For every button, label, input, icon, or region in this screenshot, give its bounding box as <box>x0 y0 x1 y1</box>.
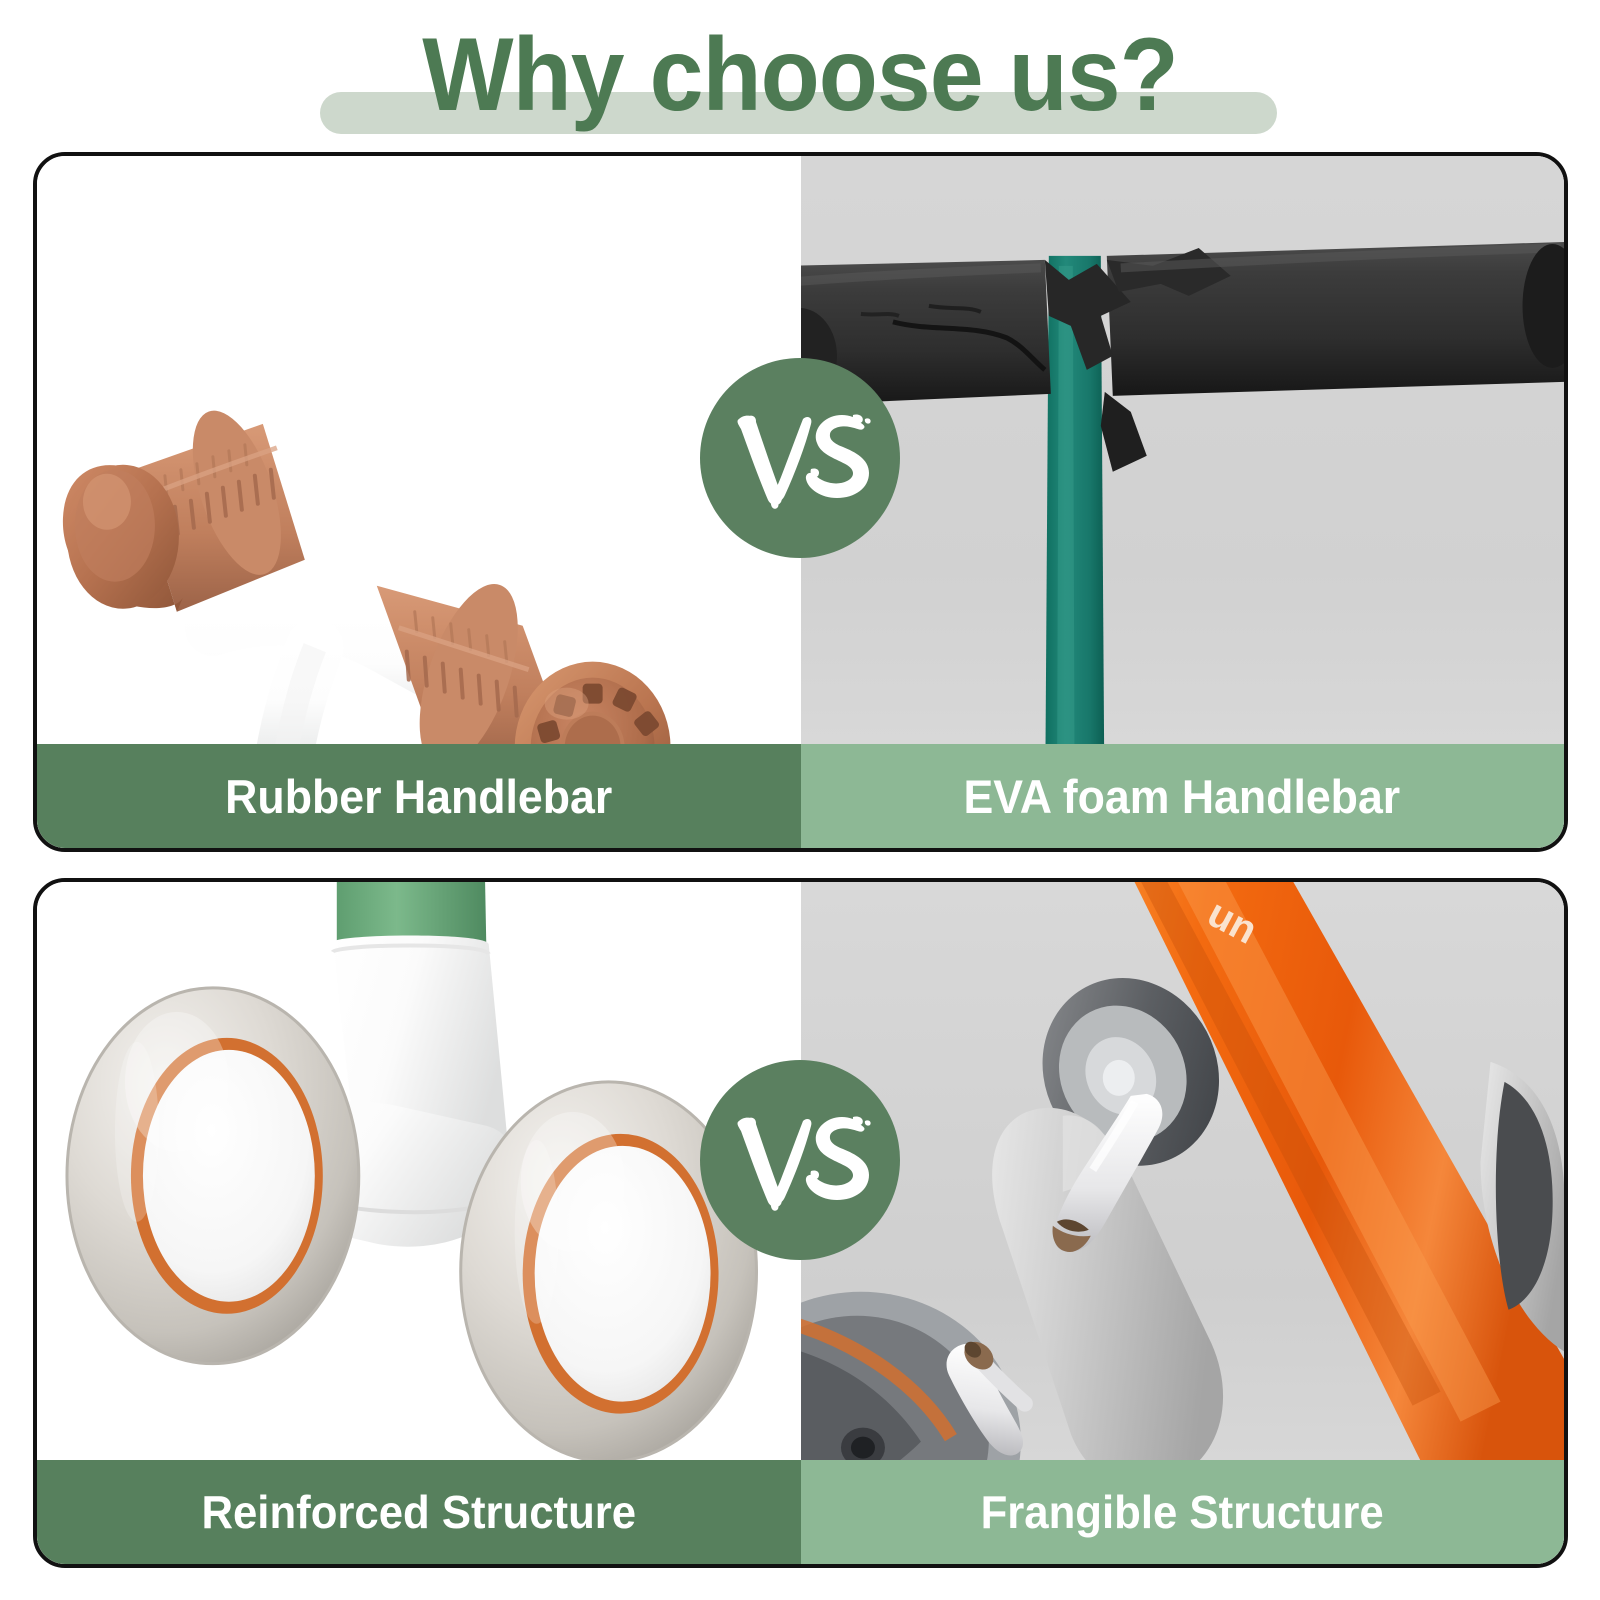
label-row-structure: Reinforced Structure Frangible Structure <box>37 1460 1564 1564</box>
label-eva-foam-handlebar: EVA foam Handlebar <box>801 744 1565 848</box>
vs-brush-icon <box>725 1105 875 1215</box>
label-frangible-structure: Frangible Structure <box>801 1460 1565 1564</box>
label-rubber-handlebar: Rubber Handlebar <box>37 744 801 848</box>
vs-badge-handlebar <box>700 358 900 558</box>
page-title: Why choose us? <box>56 0 1544 150</box>
vs-badge-structure <box>700 1060 900 1260</box>
vs-brush-icon <box>725 403 875 513</box>
label-reinforced-structure: Reinforced Structure <box>37 1460 801 1564</box>
header: Why choose us? <box>0 0 1600 150</box>
label-row-handlebar: Rubber Handlebar EVA foam Handlebar <box>37 744 1564 848</box>
